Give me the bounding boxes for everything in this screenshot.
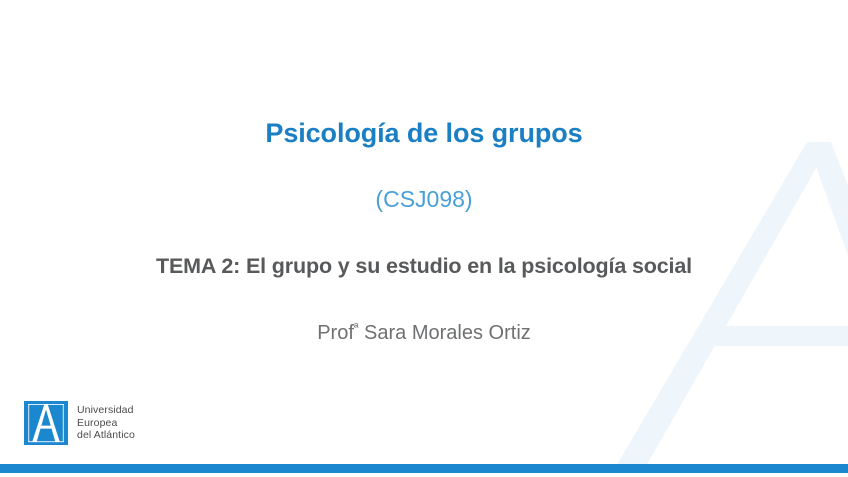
topic-heading: TEMA 2: El grupo y su estudio en la psic…: [0, 254, 848, 279]
letter-a-logo-icon: [24, 401, 68, 445]
university-logo: Universidad Europea del Atlántico: [24, 401, 135, 445]
author-prefix: Prof: [317, 322, 354, 344]
slide-canvas: Psicología de los grupos (CSJ098) TEMA 2…: [0, 0, 848, 477]
footer-accent-bar: [0, 464, 848, 473]
university-logo-text: Universidad Europea del Atlántico: [77, 404, 135, 441]
letter-a-watermark-icon: [585, 130, 848, 470]
course-code: (CSJ098): [0, 186, 848, 213]
author-name: Sara Morales Ortiz: [359, 322, 531, 344]
author-line: Profª Sara Morales Ortiz: [0, 322, 848, 345]
logo-line-1: Universidad: [77, 404, 135, 416]
footer-bottom-margin: [0, 473, 848, 477]
page-title: Psicología de los grupos: [0, 118, 848, 149]
logo-line-2: Europea: [77, 417, 135, 429]
logo-line-3: del Atlántico: [77, 429, 135, 441]
